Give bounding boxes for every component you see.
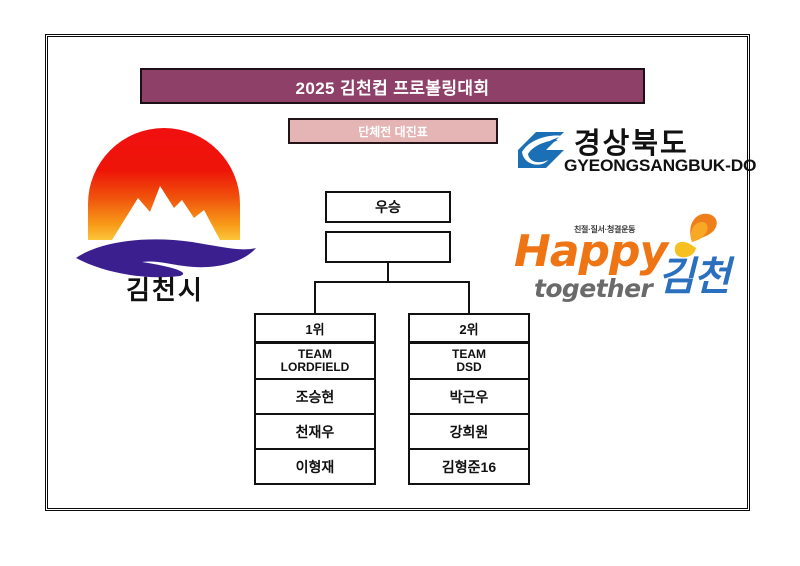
player-name: 김형준16 <box>442 457 496 477</box>
team-rank-label: 2위 <box>459 319 478 338</box>
team-player-row: 강희원 <box>408 415 530 450</box>
team-name-cell: TEAM LORDFIELD <box>254 344 376 380</box>
player-name: 강희원 <box>450 422 489 442</box>
player-name: 조승현 <box>296 387 335 407</box>
bracket-connector-bar <box>314 281 470 283</box>
bracket-connector-left <box>314 281 316 314</box>
bracket-connector-stem <box>387 263 389 283</box>
team-rank-badge: 1위 <box>254 313 376 344</box>
team-name-cell: TEAM DSD <box>408 344 530 380</box>
team-rank-label: 1위 <box>305 319 324 338</box>
player-name: 이형재 <box>296 457 335 477</box>
final-match-box[interactable] <box>325 231 451 263</box>
team-column-left: 1위 TEAM LORDFIELD 조승현 천재우 이형재 <box>254 313 376 485</box>
tournament-bracket: 우승 1위 TEAM LORDFIELD 조승현 천재우 이형재 2위 TEAM… <box>0 0 800 566</box>
team-player-row: 이형재 <box>254 450 376 485</box>
champion-box: 우승 <box>325 191 451 223</box>
team-player-row: 박근우 <box>408 380 530 415</box>
team-player-row: 조승현 <box>254 380 376 415</box>
team-player-row: 천재우 <box>254 415 376 450</box>
player-name: 박근우 <box>450 387 489 407</box>
bracket-connector-right <box>468 281 470 314</box>
player-name: 천재우 <box>296 422 335 442</box>
team-column-right: 2위 TEAM DSD 박근우 강희원 김형준16 <box>408 313 530 485</box>
champion-label: 우승 <box>375 199 401 215</box>
team-rank-badge: 2위 <box>408 313 530 344</box>
team-player-row: 김형준16 <box>408 450 530 485</box>
team-name-label: TEAM DSD <box>452 348 486 374</box>
team-name-label: TEAM LORDFIELD <box>281 348 350 374</box>
